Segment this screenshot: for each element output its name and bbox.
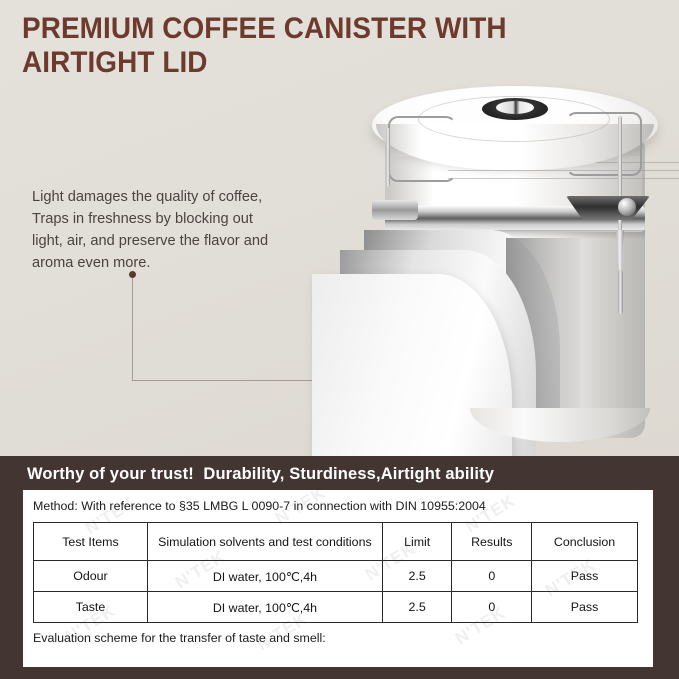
column-header-conclusion: Conclusion [532,523,638,561]
bail-wire-left [386,128,390,186]
cell-results: 0 [452,561,532,592]
table-row: Taste DI water, 100℃,4h 2.5 0 Pass [34,592,638,623]
leader-line-vertical [132,276,133,381]
feature-callout-text: Light damages the quality of coffee, Tra… [32,186,302,274]
column-header-test-items: Test Items [34,523,148,561]
latch-bracket-left [372,200,418,220]
bail-wire-right-lower [618,270,623,314]
cell-limit: 2.5 [382,592,452,623]
test-report-document: N'TEK N'TEK N'TEK N'TEK N'TEK N'TEK N'TE… [23,490,653,667]
trust-section-title: Worthy of your trust! Durability, Sturdi… [27,465,494,484]
table-row: Odour DI water, 100℃,4h 2.5 0 Pass [34,561,638,592]
page-title: PREMIUM COFFEE CANISTER WITH AIRTIGHT LI… [22,12,580,80]
column-header-limit: Limit [382,523,452,561]
product-infographic: PREMIUM COFFEE CANISTER WITH AIRTIGHT LI… [0,0,679,679]
cell-test-item: Taste [34,592,148,623]
valve-knob [496,101,534,114]
leader-dot-origin [129,271,136,278]
cell-test-item: Odour [34,561,148,592]
latch-ball-stud [618,198,636,216]
wire-bail-latch-left [388,116,456,182]
cutaway-panel-outer [312,274,512,456]
column-header-conditions: Simulation solvents and test conditions [147,523,382,561]
cell-limit: 2.5 [382,561,452,592]
cell-conclusion: Pass [532,592,638,623]
column-header-results: Results [452,523,532,561]
table-header-row: Test Items Simulation solvents and test … [34,523,638,561]
coffee-canister-image [330,78,679,456]
cell-results: 0 [452,592,532,623]
test-results-table: Test Items Simulation solvents and test … [33,522,638,623]
trust-section: Worthy of your trust! Durability, Sturdi… [0,456,679,679]
hero-section: PREMIUM COFFEE CANISTER WITH AIRTIGHT LI… [0,0,679,456]
evaluation-scheme-text: Evaluation scheme for the transfer of ta… [33,631,326,645]
cell-conditions: DI water, 100℃,4h [147,561,382,592]
cell-conditions: DI water, 100℃,4h [147,592,382,623]
wire-bail-latch-right [566,112,642,176]
method-reference-text: Method: With reference to §35 LMBG L 009… [33,499,486,513]
cell-conclusion: Pass [532,561,638,592]
